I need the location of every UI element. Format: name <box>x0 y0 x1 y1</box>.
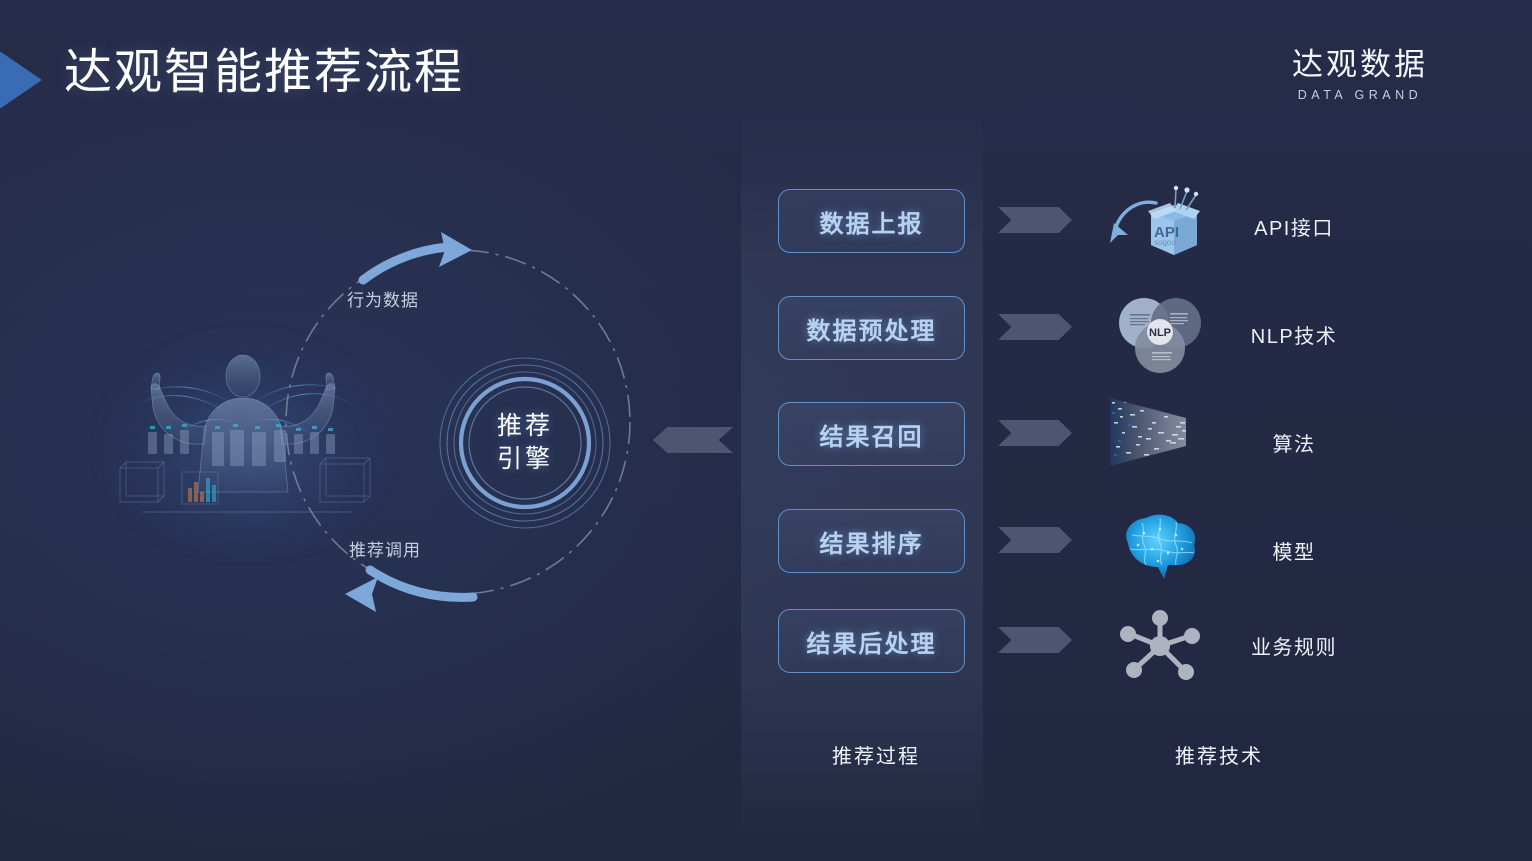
engine-label: 推荐 引擎 <box>437 355 613 531</box>
process-arrow-icon-2 <box>998 314 1072 340</box>
engine-label-line2: 引擎 <box>497 443 553 476</box>
engine-label-line1: 推荐 <box>497 410 553 443</box>
process-step-label-2: 数据预处理 <box>807 311 937 346</box>
process-step-label-4: 结果排序 <box>820 524 924 559</box>
tech-label-2: NLP技术 <box>1189 320 1399 349</box>
process-step-label-1: 数据上报 <box>820 204 924 239</box>
process-step-box-4[interactable]: 结果排序 <box>778 509 965 573</box>
process-step-box-2[interactable]: 数据预处理 <box>778 296 965 360</box>
title-triangle-icon <box>0 50 42 110</box>
engine-feedback-arrow-icon <box>653 427 733 453</box>
process-arrow-icon-5 <box>998 627 1072 653</box>
process-step-box-3[interactable]: 结果召回 <box>778 402 965 466</box>
process-arrow-icon-3 <box>998 420 1072 446</box>
tech-label-4: 模型 <box>1189 536 1399 565</box>
cycle-label-recommend-call: 推荐调用 <box>349 536 421 561</box>
svg-text:NLP: NLP <box>1149 327 1171 339</box>
logo-en-text: DATA GRAND <box>1250 85 1470 105</box>
logo-cn-text: 达观数据 <box>1250 47 1470 83</box>
brand-logo: 达观数据 DATA GRAND <box>1250 47 1470 105</box>
tech-label-3: 算法 <box>1189 428 1399 457</box>
process-arrow-icon-4 <box>998 527 1072 553</box>
page-title: 达观智能推荐流程 <box>64 42 464 104</box>
process-column-footer: 推荐过程 <box>832 740 920 769</box>
tech-label-1: API接口 <box>1189 212 1399 241</box>
svg-text:sogou: sogou <box>1154 238 1176 247</box>
process-step-box-1[interactable]: 数据上报 <box>778 189 965 253</box>
process-arrow-icon-1 <box>998 207 1072 233</box>
cycle-label-behavior-data: 行为数据 <box>347 286 419 311</box>
process-step-label-3: 结果召回 <box>820 417 924 452</box>
tech-label-5: 业务规则 <box>1189 631 1399 660</box>
technology-column-footer: 推荐技术 <box>1175 740 1263 769</box>
process-step-box-5[interactable]: 结果后处理 <box>778 609 965 673</box>
process-step-label-5: 结果后处理 <box>807 624 937 659</box>
slide-canvas: 达观智能推荐流程 达观数据 DATA GRAND <box>0 0 1532 861</box>
